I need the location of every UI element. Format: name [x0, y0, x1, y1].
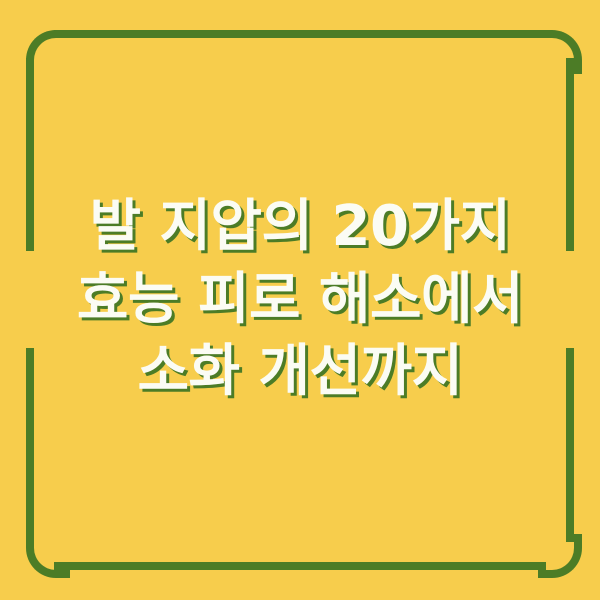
headline-text: 발 지압의 20가지 효능 피로 해소에서 소화 개선까지	[52, 191, 548, 409]
thumbnail-card: 발 지압의 20가지 효능 피로 해소에서 소화 개선까지	[0, 0, 600, 600]
headline-container: 발 지압의 20가지 효능 피로 해소에서 소화 개선까지	[0, 0, 600, 600]
